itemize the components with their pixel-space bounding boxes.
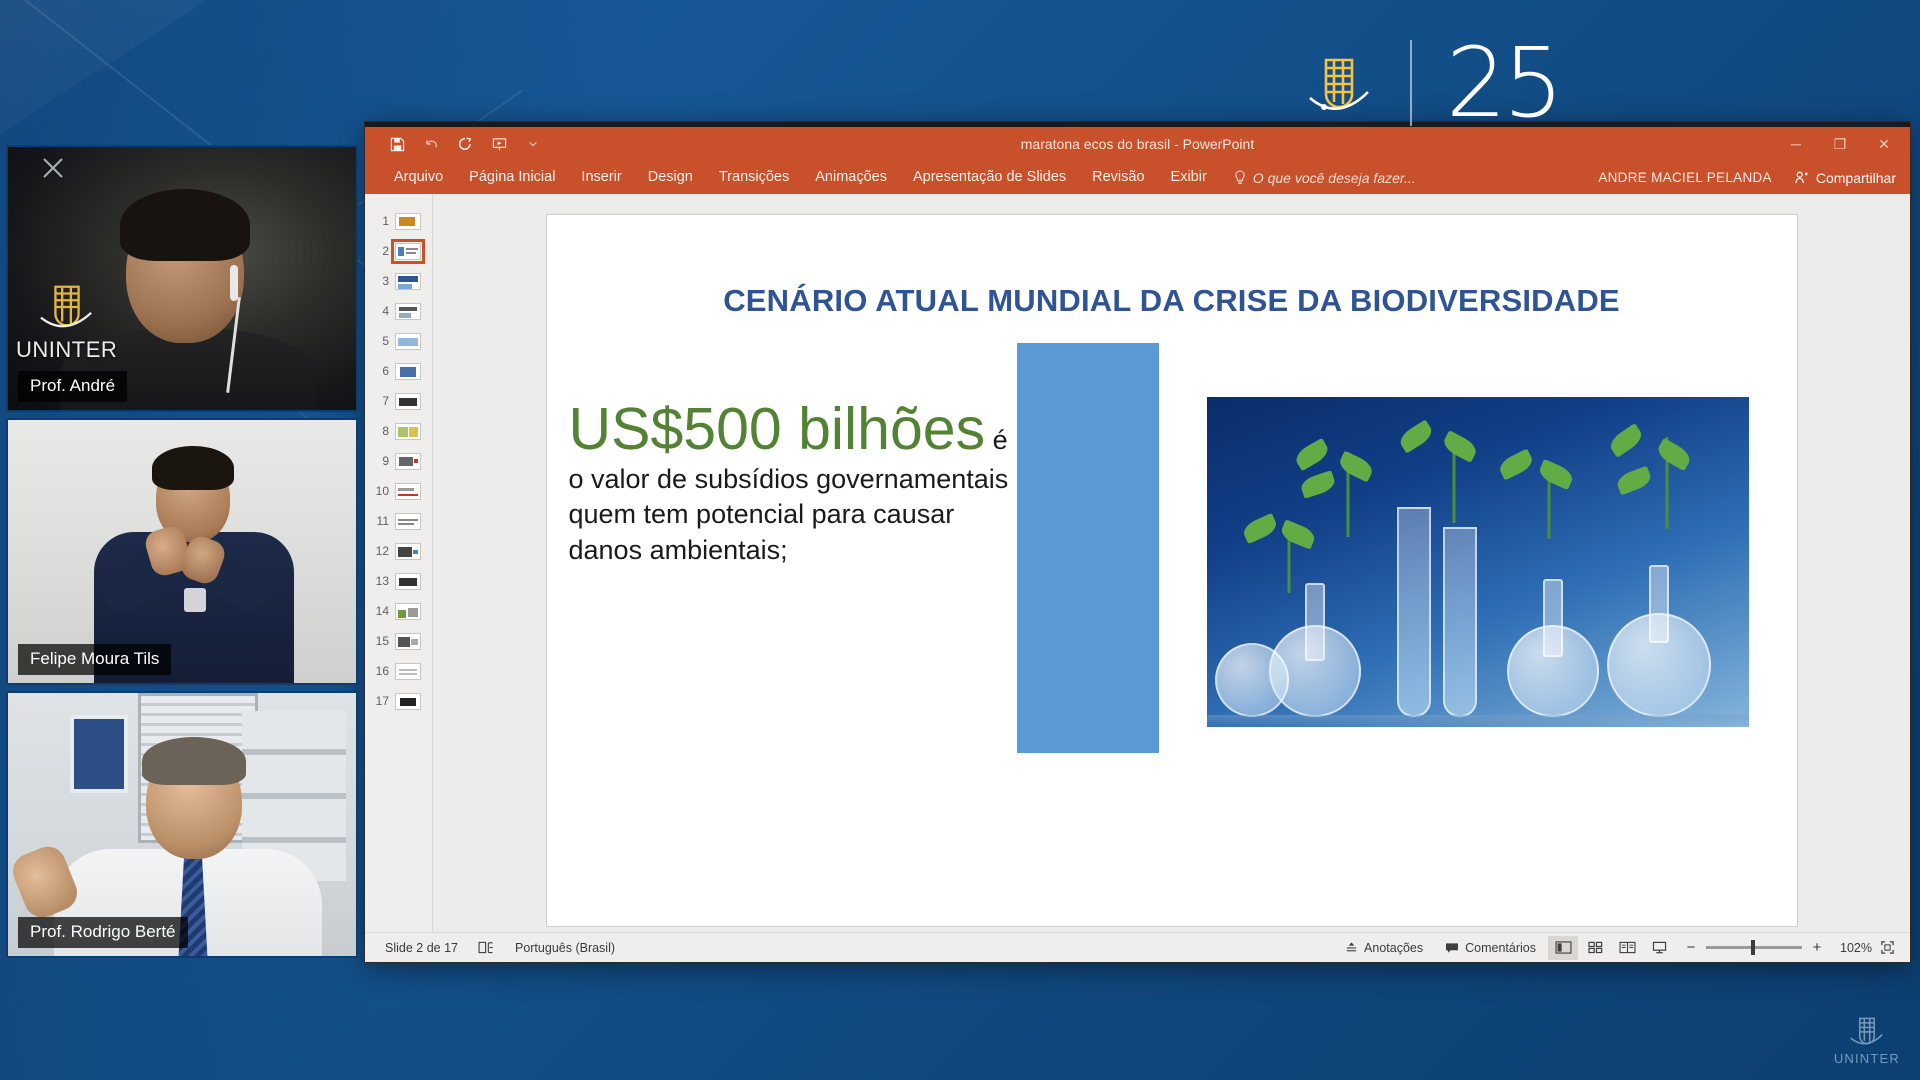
- slide-thumbnail-number: 10: [371, 484, 389, 498]
- share-label: Compartilhar: [1816, 170, 1896, 186]
- slide-thumbnail-preview[interactable]: [395, 363, 421, 380]
- slide-thumbnail-pane[interactable]: 1234567891011121314151617: [365, 194, 433, 932]
- lightbulb-icon: [1234, 170, 1246, 185]
- watermark-label: UNINTER: [1834, 1051, 1900, 1066]
- slide-thumbnail-preview[interactable]: [395, 483, 421, 500]
- slide-thumbnail-12[interactable]: 12: [365, 536, 432, 566]
- ribbon-right-controls: ANDRE MACIEL PELANDA Compartilhar: [1598, 170, 1896, 186]
- slide-editing-area[interactable]: CENÁRIO ATUAL MUNDIAL DA CRISE DA BIODIV…: [433, 194, 1910, 932]
- slide-thumbnail-preview[interactable]: [395, 333, 421, 350]
- slide-thumbnail-6[interactable]: 6: [365, 356, 432, 386]
- slide-highlight-text: US$500 bilhões: [569, 396, 986, 462]
- accessibility-check-icon[interactable]: [468, 936, 505, 960]
- slide-photo-reflection: [1207, 715, 1749, 727]
- powerpoint-title-bar: maratona ecos do brasil - PowerPoint ─ ❐…: [365, 127, 1910, 161]
- uninter-watermark: UNINTER: [1834, 1013, 1900, 1066]
- powerpoint-status-bar: Slide 2 de 17 Português (Brasil): [365, 932, 1910, 962]
- participant-tile-prof-andre[interactable]: UNINTER Prof. André: [6, 145, 358, 412]
- slide-thumbnail-number: 12: [371, 544, 389, 558]
- wall-picture-frame: [70, 715, 128, 793]
- tab-inserir[interactable]: Inserir: [568, 164, 634, 191]
- participant-tile-prof-rodrigo-berte[interactable]: Prof. Rodrigo Berté: [6, 691, 358, 958]
- slide-thumbnail-13[interactable]: 13: [365, 566, 432, 596]
- slide-thumbnail-number: 16: [371, 664, 389, 678]
- uninter-globe-icon: [1847, 1013, 1887, 1049]
- slide-indicator[interactable]: Slide 2 de 17: [375, 936, 468, 960]
- zoom-level-label[interactable]: 102%: [1834, 941, 1872, 955]
- language-indicator[interactable]: Português (Brasil): [505, 936, 625, 960]
- slide-thumbnail-5[interactable]: 5: [365, 326, 432, 356]
- slide-thumbnail-number: 17: [371, 694, 389, 708]
- close-icon[interactable]: ✕: [1862, 127, 1906, 161]
- fit-slide-to-window-button[interactable]: [1874, 937, 1900, 959]
- slide-thumbnail-preview[interactable]: [395, 573, 421, 590]
- slide-thumbnail-number: 2: [371, 244, 389, 258]
- slide-thumbnail-number: 9: [371, 454, 389, 468]
- tab-animacoes[interactable]: Animações: [802, 164, 900, 191]
- participant-video-column: UNINTER Prof. André Felipe Moura Tils: [6, 145, 358, 958]
- slide-body-textbox[interactable]: US$500 bilhões é o valor de subsídios go…: [569, 398, 1009, 569]
- notes-label: Anotações: [1364, 941, 1423, 955]
- slide-thumbnail-14[interactable]: 14: [365, 596, 432, 626]
- tell-me-placeholder: O que você deseja fazer...: [1253, 170, 1416, 186]
- uninter-globe-icon: [36, 279, 98, 335]
- brand-divider: [1410, 40, 1412, 126]
- video-conference-stage: 25 UNINTER: [0, 0, 1920, 1080]
- slide-thumbnail-11[interactable]: 11: [365, 506, 432, 536]
- slide-thumbnail-10[interactable]: 10: [365, 476, 432, 506]
- tab-transicoes[interactable]: Transições: [706, 164, 802, 191]
- slide-thumbnail-number: 14: [371, 604, 389, 618]
- zoom-slider[interactable]: [1706, 946, 1802, 949]
- restore-icon[interactable]: ❐: [1818, 127, 1862, 161]
- tab-apresentacao-de-slides[interactable]: Apresentação de Slides: [900, 164, 1079, 191]
- slideshow-view-button[interactable]: [1644, 936, 1674, 960]
- slide-photo-lab-plants[interactable]: [1207, 397, 1749, 727]
- slide-thumbnail-number: 15: [371, 634, 389, 648]
- window-controls: ─ ❐ ✕: [1774, 127, 1906, 161]
- brand-lockup: 25: [1302, 40, 1560, 126]
- quick-access-toolbar: [365, 134, 543, 154]
- close-icon[interactable]: [40, 155, 66, 181]
- slide-thumbnail-preview[interactable]: [395, 273, 421, 290]
- slide-thumbnail-number: 6: [371, 364, 389, 378]
- slide-thumbnail-number: 4: [371, 304, 389, 318]
- zoom-control[interactable]: − +: [1676, 939, 1832, 956]
- notes-icon: [1345, 941, 1358, 954]
- headset-earbud: [230, 265, 238, 301]
- slide-accent-bar[interactable]: [1017, 343, 1159, 753]
- tab-pagina-inicial[interactable]: Página Inicial: [456, 164, 568, 191]
- shirt-badge: [184, 588, 206, 612]
- comment-icon: [1445, 942, 1459, 954]
- zoom-slider-thumb[interactable]: [1751, 940, 1755, 955]
- participant-name-label: Felipe Moura Tils: [18, 644, 171, 675]
- slide-thumbnail-preview[interactable]: [395, 633, 421, 650]
- slide-thumbnail-17[interactable]: 17: [365, 686, 432, 716]
- slide-thumbnail-number: 1: [371, 214, 389, 228]
- slide-thumbnail-preview[interactable]: [395, 423, 421, 440]
- slide-thumbnail-preview[interactable]: [395, 513, 421, 530]
- slide-canvas[interactable]: CENÁRIO ATUAL MUNDIAL DA CRISE DA BIODIV…: [546, 214, 1798, 927]
- slide-thumbnail-number: 5: [371, 334, 389, 348]
- minimize-icon[interactable]: ─: [1774, 127, 1818, 161]
- slide-thumbnail-7[interactable]: 7: [365, 386, 432, 416]
- comments-label: Comentários: [1465, 941, 1536, 955]
- powerpoint-window: maratona ecos do brasil - PowerPoint ─ ❐…: [365, 122, 1910, 962]
- reading-view-button[interactable]: [1612, 936, 1642, 960]
- uninter-logo-overlay: UNINTER: [16, 279, 117, 363]
- uninter-logo-label: UNINTER: [16, 337, 117, 363]
- slide-thumbnail-8[interactable]: 8: [365, 416, 432, 446]
- anniversary-number: 25: [1446, 44, 1560, 123]
- slide-thumbnail-preview[interactable]: [395, 243, 421, 260]
- slide-thumbnail-number: 7: [371, 394, 389, 408]
- slide-thumbnail-15[interactable]: 15: [365, 626, 432, 656]
- zoom-out-button[interactable]: −: [1684, 939, 1698, 956]
- slide-thumbnail-16[interactable]: 16: [365, 656, 432, 686]
- document-title: maratona ecos do brasil - PowerPoint: [365, 136, 1910, 152]
- powerpoint-workspace: 1234567891011121314151617 CENÁRIO ATUAL …: [365, 194, 1910, 932]
- start-slideshow-icon[interactable]: [489, 134, 509, 154]
- uninter-globe-icon: [1302, 46, 1376, 120]
- account-name[interactable]: ANDRE MACIEL PELANDA: [1598, 170, 1772, 185]
- save-icon[interactable]: [387, 134, 407, 154]
- person-hair: [120, 189, 250, 261]
- chevron-down-icon[interactable]: [523, 134, 543, 154]
- slide-thumbnail-number: 3: [371, 274, 389, 288]
- redo-icon[interactable]: [455, 134, 475, 154]
- tab-revisao[interactable]: Revisão: [1079, 164, 1157, 191]
- person-hair: [142, 737, 246, 785]
- normal-view-button[interactable]: [1548, 936, 1578, 960]
- slide-sorter-view-button[interactable]: [1580, 936, 1610, 960]
- slide-thumbnail-preview[interactable]: [395, 453, 421, 470]
- slide-thumbnail-number: 8: [371, 424, 389, 438]
- slide-thumbnail-9[interactable]: 9: [365, 446, 432, 476]
- tell-me-search[interactable]: O que você deseja fazer...: [1234, 170, 1416, 186]
- undo-icon[interactable]: [421, 134, 441, 154]
- slide-thumbnail-3[interactable]: 3: [365, 266, 432, 296]
- tab-design[interactable]: Design: [635, 164, 706, 191]
- participant-name-label: Prof. André: [18, 371, 127, 402]
- participant-tile-felipe-moura-tils[interactable]: Felipe Moura Tils: [6, 418, 358, 685]
- slide-thumbnail-preview[interactable]: [395, 543, 421, 560]
- slide-thumbnail-preview[interactable]: [395, 393, 421, 410]
- participant-name-label: Prof. Rodrigo Berté: [18, 917, 188, 948]
- slide-thumbnail-preview[interactable]: [395, 693, 421, 710]
- ribbon-tab-row: Arquivo Página Inicial Inserir Design Tr…: [365, 161, 1910, 194]
- slide-title[interactable]: CENÁRIO ATUAL MUNDIAL DA CRISE DA BIODIV…: [607, 283, 1737, 319]
- slide-thumbnail-2[interactable]: 2: [365, 236, 432, 266]
- share-button[interactable]: Compartilhar: [1794, 170, 1896, 186]
- slide-thumbnail-preview[interactable]: [395, 603, 421, 620]
- slide-thumbnail-preview[interactable]: [395, 303, 421, 320]
- slide-thumbnail-preview[interactable]: [395, 213, 421, 230]
- slide-thumbnail-preview[interactable]: [395, 663, 421, 680]
- slide-thumbnail-1[interactable]: 1: [365, 206, 432, 236]
- notes-button[interactable]: Anotações: [1335, 936, 1433, 960]
- zoom-in-button[interactable]: +: [1810, 939, 1824, 956]
- slide-thumbnail-number: 11: [371, 514, 389, 528]
- slide-thumbnail-4[interactable]: 4: [365, 296, 432, 326]
- person-share-icon: [1794, 170, 1809, 185]
- slide-thumbnail-number: 13: [371, 574, 389, 588]
- person-hair: [152, 446, 234, 490]
- tab-exibir[interactable]: Exibir: [1158, 164, 1220, 191]
- comments-button[interactable]: Comentários: [1435, 936, 1546, 960]
- tab-arquivo[interactable]: Arquivo: [381, 164, 456, 191]
